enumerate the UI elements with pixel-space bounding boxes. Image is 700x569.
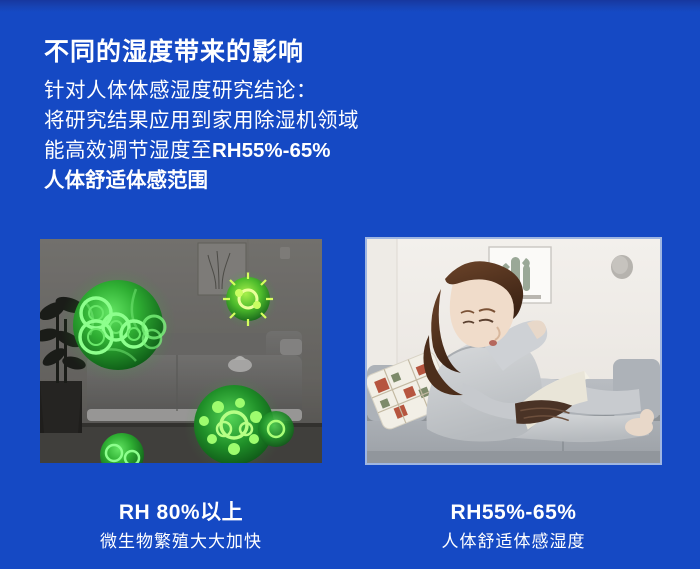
top-accent-band — [0, 0, 700, 12]
page-title: 不同的湿度带来的影响 — [44, 35, 304, 69]
intro-line-4: 人体舒适体感范围 — [44, 166, 359, 196]
intro-line-3: 能高效调节湿度至RH55%-65% — [44, 136, 359, 166]
intro-paragraph: 针对人体体感湿度研究结论： 将研究结果应用到家用除湿机领域 能高效调节湿度至RH… — [44, 76, 359, 196]
caption-left-subtitle: 微生物繁殖大大加快 — [40, 529, 322, 555]
caption-right-subtitle: 人体舒适体感湿度 — [367, 529, 660, 555]
caption-left: RH 80%以上 微生物繁殖大大加快 — [40, 500, 322, 555]
woman-reading-book-on-sofa-photo — [367, 239, 660, 463]
intro-line-2: 将研究结果应用到家用除湿机领域 — [44, 106, 359, 136]
living-room-with-green-mold-spores-photo — [40, 239, 322, 463]
humidity-range-highlight: RH55%-65% — [212, 139, 331, 162]
intro-line-3-prefix: 能高效调节湿度至 — [44, 139, 212, 162]
caption-left-title: RH 80%以上 — [40, 500, 322, 526]
humidity-comparison-poster: 不同的湿度带来的影响 针对人体体感湿度研究结论： 将研究结果应用到家用除湿机领域… — [0, 0, 700, 569]
caption-right: RH55%-65% 人体舒适体感湿度 — [367, 500, 660, 555]
intro-line-1: 针对人体体感湿度研究结论： — [44, 76, 359, 106]
caption-right-title: RH55%-65% — [367, 500, 660, 526]
